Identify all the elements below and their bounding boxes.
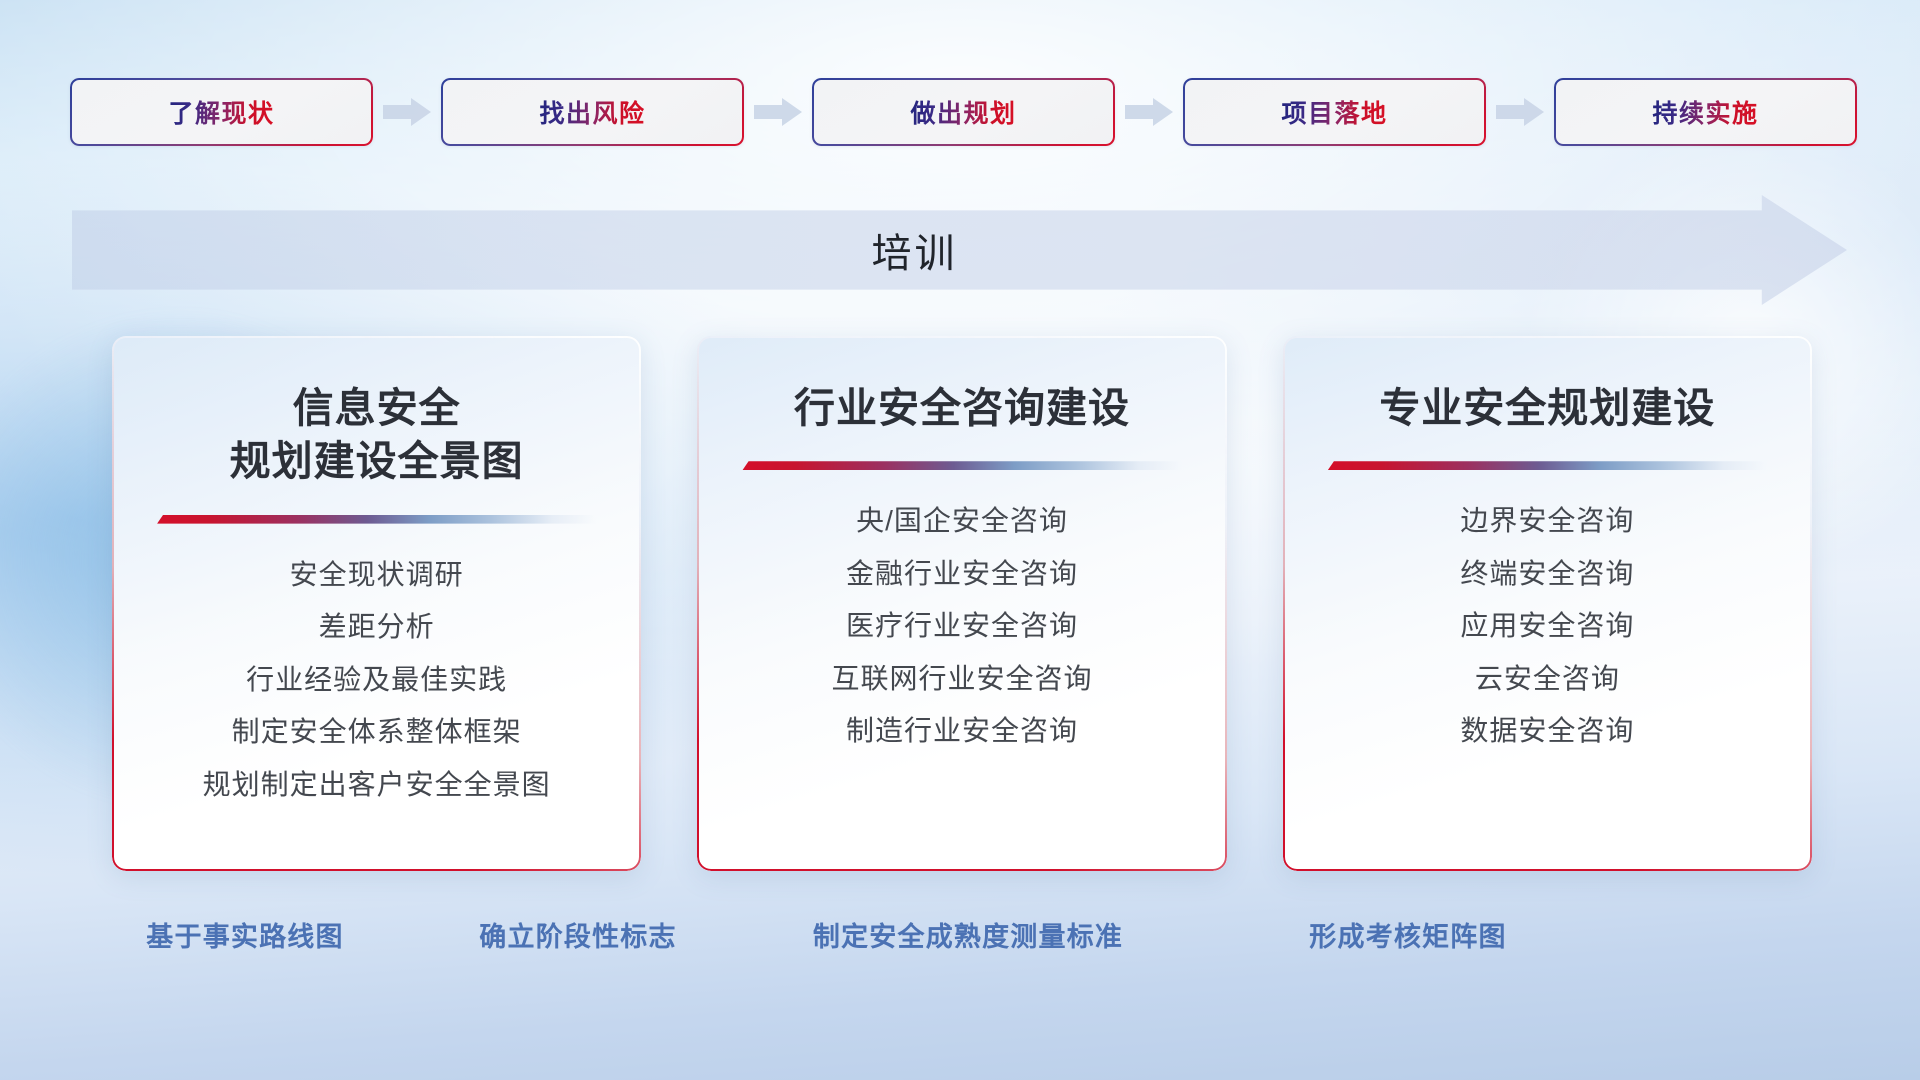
list-item: 央/国企安全咨询 [856,500,1068,543]
list-item: 应用安全咨询 [1460,605,1634,648]
list-item: 金融行业安全咨询 [846,553,1078,596]
step-label-5: 持续实施 [1652,94,1758,130]
cards-row: 信息安全 规划建设全景图 安全现状调研 差距分析 行业经验及最佳实践 制定安全体… [112,336,1812,871]
card-1[interactable]: 信息安全 规划建设全景图 安全现状调研 差距分析 行业经验及最佳实践 制定安全体… [112,336,641,871]
card-divider-3 [1328,461,1767,470]
card-list-3: 边界安全咨询 终端安全咨询 应用安全咨询 云安全咨询 数据安全咨询 [1460,500,1634,753]
banner-label: 培训 [72,221,1847,279]
step-box-1[interactable]: 了解现状 [70,78,373,146]
list-item: 规划制定出客户安全全景图 [203,764,551,807]
list-item: 安全现状调研 [290,554,464,597]
caption-2: 确立阶段性标志 [479,915,676,954]
list-item: 行业经验及最佳实践 [246,659,507,702]
list-item: 制造行业安全咨询 [846,710,1078,753]
caption-4: 形成考核矩阵图 [1309,915,1506,954]
caption-3: 制定安全成熟度测量标准 [813,915,1123,954]
list-item: 终端安全咨询 [1460,553,1634,596]
list-item: 数据安全咨询 [1460,710,1634,753]
card-list-1: 安全现状调研 差距分析 行业经验及最佳实践 制定安全体系整体框架 规划制定出客户… [203,554,551,807]
card-title-1: 信息安全 规划建设全景图 [230,382,524,489]
list-item: 互联网行业安全咨询 [831,658,1092,701]
step-label-4: 项目落地 [1281,94,1387,130]
list-item: 医疗行业安全咨询 [846,605,1078,648]
step-box-5[interactable]: 持续实施 [1554,78,1857,146]
step-label-3: 做出规划 [910,94,1016,130]
card-divider-2 [742,461,1181,470]
list-item: 差距分析 [319,606,435,649]
step-box-4[interactable]: 项目落地 [1183,78,1486,146]
list-item: 云安全咨询 [1475,658,1620,701]
step-box-2[interactable]: 找出风险 [441,78,744,146]
step-label-1: 了解现状 [168,94,274,130]
arrow-right-icon [744,95,812,129]
caption-1: 基于事实路线图 [146,915,343,954]
card-title-3: 专业安全规划建设 [1379,382,1715,435]
arrow-right-icon [1115,95,1183,129]
training-banner: 培训 [72,195,1847,305]
arrow-right-icon [373,95,441,129]
card-divider-1 [157,515,596,524]
step-label-2: 找出风险 [539,94,645,130]
captions-row: 基于事实路线图 确立阶段性标志 制定安全成熟度测量标准 形成考核矩阵图 [0,915,1920,963]
card-list-2: 央/国企安全咨询 金融行业安全咨询 医疗行业安全咨询 互联网行业安全咨询 制造行… [831,500,1092,753]
list-item: 制定安全体系整体框架 [232,711,522,754]
list-item: 边界安全咨询 [1460,500,1634,543]
card-3[interactable]: 专业安全规划建设 边界安全咨询 终端安全咨询 应用安全咨询 云安全咨询 数据安全… [1283,336,1812,871]
arrow-right-icon [1486,95,1554,129]
card-2[interactable]: 行业安全咨询建设 央/国企安全咨询 金融行业安全咨询 医疗行业安全咨询 互联网行… [697,336,1226,871]
card-title-2: 行业安全咨询建设 [794,382,1130,435]
process-steps-row: 了解现状 找出风险 做出规划 项目落地 持续实施 [70,78,1857,146]
step-box-3[interactable]: 做出规划 [812,78,1115,146]
